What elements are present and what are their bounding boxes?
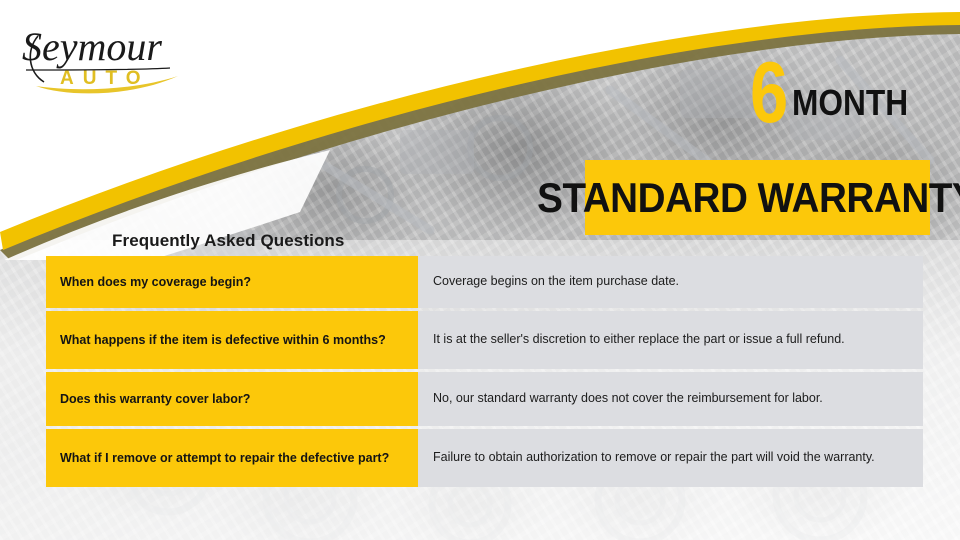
seymour-auto-logo[interactable]: Seymour AUTO <box>18 16 198 100</box>
faq-answer-text: Coverage begins on the item purchase dat… <box>433 273 679 291</box>
faq-answer-cell: Failure to obtain authorization to remov… <box>418 429 923 487</box>
warranty-month-number: 6 <box>750 60 787 127</box>
faq-question-cell: What happens if the item is defective wi… <box>46 311 418 369</box>
faq-heading: Frequently Asked Questions <box>112 231 344 251</box>
faq-question-text: What if I remove or attempt to repair th… <box>60 450 389 467</box>
warranty-badge-top: 6 MONTH <box>750 60 924 127</box>
logo-auto-text: AUTO <box>60 68 149 89</box>
table-row: What if I remove or attempt to repair th… <box>46 429 923 487</box>
logo-artwork: Seymour AUTO <box>18 16 198 100</box>
faq-answer-cell: Coverage begins on the item purchase dat… <box>418 256 923 308</box>
faq-answer-text: It is at the seller's discretion to eith… <box>433 331 845 349</box>
faq-answer-cell: No, our standard warranty does not cover… <box>418 372 923 426</box>
faq-question-text: What happens if the item is defective wi… <box>60 332 386 349</box>
faq-answer-text: No, our standard warranty does not cover… <box>433 390 823 408</box>
logo-script-text: Seymour <box>22 24 162 69</box>
table-row: What happens if the item is defective wi… <box>46 311 923 369</box>
faq-answer-text: Failure to obtain authorization to remov… <box>433 449 875 467</box>
faq-answer-cell: It is at the seller's discretion to eith… <box>418 311 923 369</box>
faq-question-text: When does my coverage begin? <box>60 274 251 291</box>
warranty-title-bar: STANDARD WARRANTY <box>585 160 930 235</box>
faq-question-cell: What if I remove or attempt to repair th… <box>46 429 418 487</box>
faq-question-cell: When does my coverage begin? <box>46 256 418 308</box>
table-row: When does my coverage begin? Coverage be… <box>46 256 923 308</box>
faq-question-text: Does this warranty cover labor? <box>60 391 250 408</box>
warranty-month-label: MONTH <box>792 85 908 121</box>
slide-canvas: Seymour AUTO 6 MONTH STANDARD WARRANTY F… <box>0 0 960 540</box>
faq-question-cell: Does this warranty cover labor? <box>46 372 418 426</box>
faq-table: When does my coverage begin? Coverage be… <box>46 256 923 487</box>
table-row: Does this warranty cover labor? No, our … <box>46 372 923 426</box>
warranty-title-text: STANDARD WARRANTY <box>537 177 960 219</box>
warranty-badge: 6 MONTH STANDARD WARRANTY <box>585 60 930 235</box>
